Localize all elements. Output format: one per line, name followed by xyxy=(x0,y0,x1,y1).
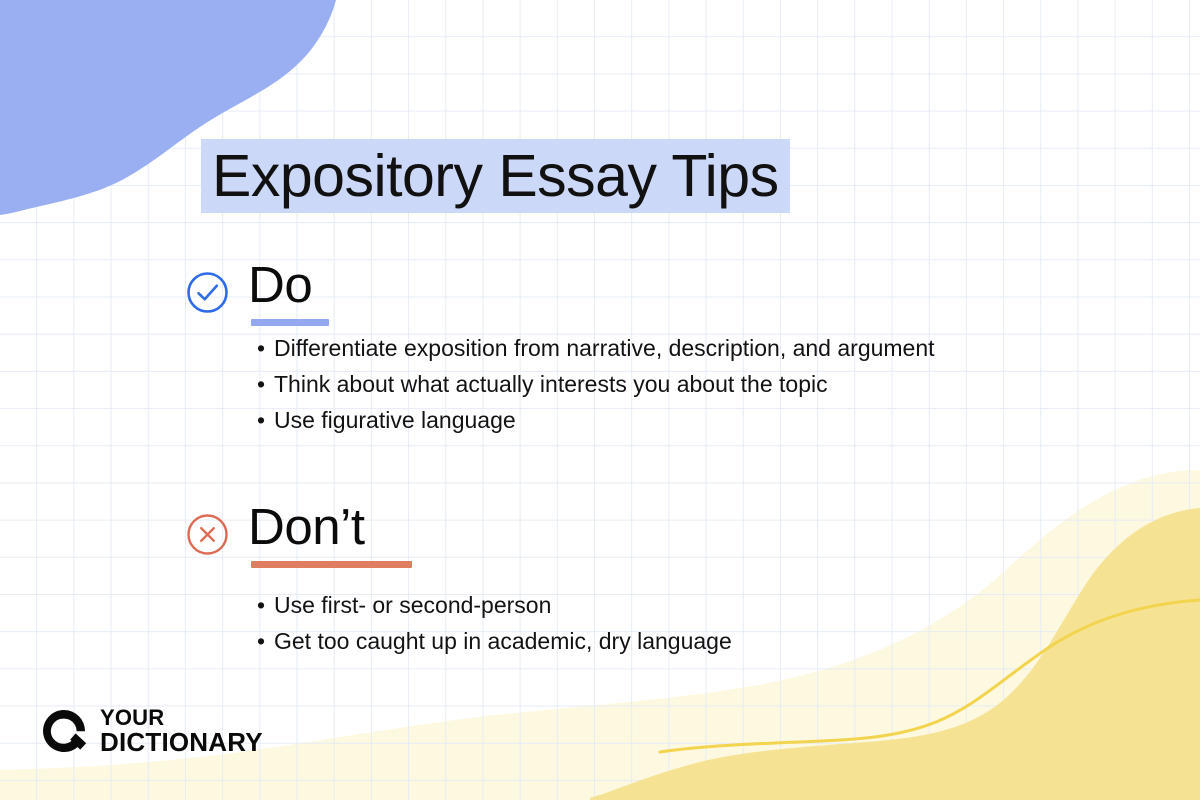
section-dont-list: Use first- or second-person Get too caug… xyxy=(257,587,732,659)
section-do-underline xyxy=(251,319,329,326)
page-title: Expository Essay Tips xyxy=(201,139,790,213)
section-do-header: Do xyxy=(186,258,312,326)
section-do-heading: Do xyxy=(248,256,312,313)
yourdictionary-wordmark: YOUR DICTIONARY xyxy=(100,706,263,756)
logo-line-dictionary: DICTIONARY xyxy=(100,729,263,756)
list-item: Use figurative language xyxy=(257,402,935,438)
section-dont-underline xyxy=(251,561,412,568)
yourdictionary-logo: YOUR DICTIONARY xyxy=(40,706,263,756)
section-do: Do xyxy=(186,258,312,326)
circle-x-icon xyxy=(186,513,229,556)
logo-line-your: YOUR xyxy=(100,706,263,729)
list-item: Get too caught up in academic, dry langu… xyxy=(257,623,732,659)
list-item: Differentiate exposition from narrative,… xyxy=(257,330,935,366)
poster-canvas: Expository Essay Tips Do Differentiate e… xyxy=(0,0,1200,800)
section-dont: Don’t xyxy=(186,500,365,568)
poster-content: Expository Essay Tips Do Differentiate e… xyxy=(0,0,1200,800)
section-do-list: Differentiate exposition from narrative,… xyxy=(257,330,935,438)
circle-check-icon xyxy=(186,271,229,314)
yourdictionary-q-mark-icon xyxy=(40,707,88,755)
section-dont-heading-wrap: Don’t xyxy=(248,500,365,568)
list-item: Think about what actually interests you … xyxy=(257,366,935,402)
section-dont-header: Don’t xyxy=(186,500,365,568)
section-do-heading-wrap: Do xyxy=(248,258,312,326)
page-title-text: Expository Essay Tips xyxy=(201,139,790,213)
section-dont-heading: Don’t xyxy=(248,498,365,555)
list-item: Use first- or second-person xyxy=(257,587,732,623)
